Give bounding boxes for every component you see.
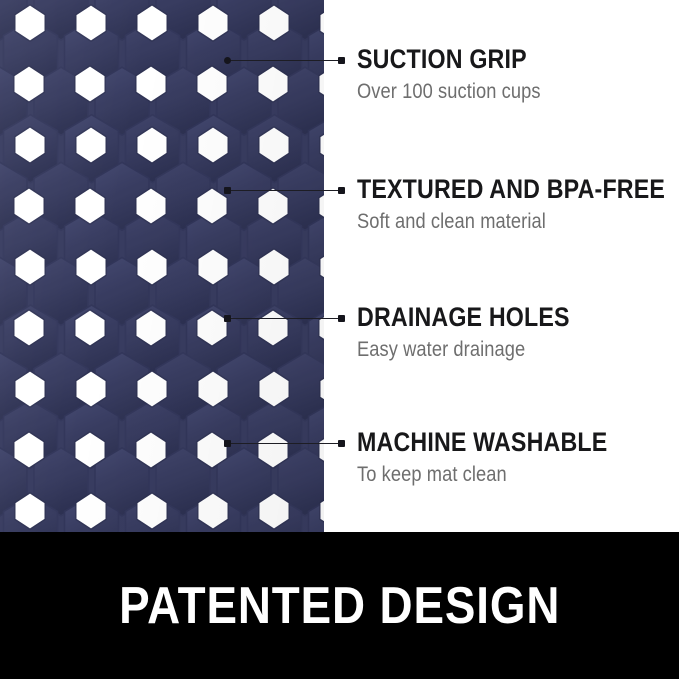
feature-subtitle: Over 100 suction cups — [357, 81, 541, 102]
feature-subtitle: To keep mat clean — [357, 464, 610, 485]
feature-list-panel: SUCTION GRIP Over 100 suction cups TEXTU… — [324, 0, 679, 532]
feature-title: TEXTURED AND BPA-FREE — [357, 176, 665, 203]
feature-title: DRAINAGE HOLES — [357, 304, 570, 331]
feature-subtitle: Easy water drainage — [357, 339, 572, 360]
bath-mat-swatch — [0, 0, 324, 532]
feature-item-machine-washable: MACHINE WASHABLE To keep mat clean — [357, 429, 648, 485]
patented-design-banner: PATENTED DESIGN — [0, 532, 679, 679]
product-feature-infographic: SUCTION GRIP Over 100 suction cups TEXTU… — [0, 0, 679, 679]
drainage-hole-grid — [0, 0, 324, 532]
banner-headline-text: PATENTED DESIGN — [119, 580, 560, 632]
banner-headline: PATENTED DESIGN — [0, 580, 679, 632]
feature-item-suction-grip: SUCTION GRIP Over 100 suction cups — [357, 46, 568, 102]
feature-title: SUCTION GRIP — [357, 46, 539, 73]
feature-item-textured-bpa-free: TEXTURED AND BPA-FREE Soft and clean mat… — [357, 176, 679, 232]
feature-title: MACHINE WASHABLE — [357, 429, 607, 456]
feature-subtitle: Soft and clean material — [357, 211, 669, 232]
feature-item-drainage-holes: DRAINAGE HOLES Easy water drainage — [357, 304, 604, 360]
upper-section: SUCTION GRIP Over 100 suction cups TEXTU… — [0, 0, 679, 532]
